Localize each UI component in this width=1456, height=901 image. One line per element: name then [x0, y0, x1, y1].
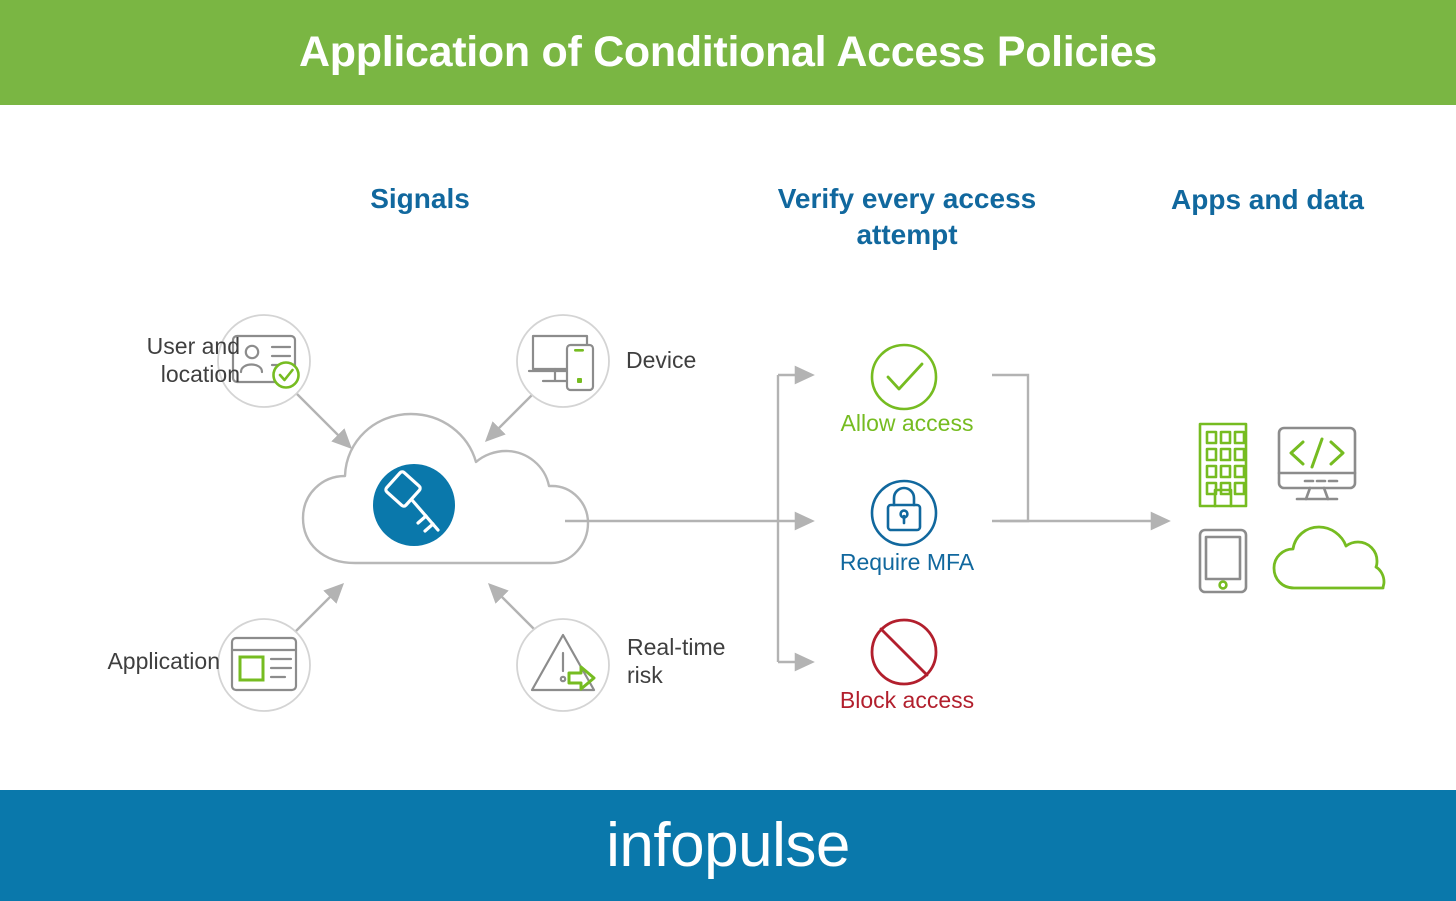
slide-canvas: Application of Conditional Access Polici… — [0, 0, 1456, 901]
connector-application-to-cloud — [295, 585, 342, 632]
green-check-badge-icon — [274, 363, 299, 388]
decision-node-require-mfa[interactable] — [872, 481, 936, 545]
decision-node-block-access[interactable] — [872, 620, 936, 684]
apps-icon-code-monitor[interactable] — [1279, 428, 1355, 499]
signal-label-real-time-risk: Real-time risk — [627, 634, 797, 689]
signal-node-application[interactable] — [218, 619, 310, 711]
connector-user-to-cloud — [292, 389, 350, 447]
signal-label-risk-line1: Real-time — [627, 634, 725, 660]
connector-decisions-to-apps — [992, 375, 1168, 521]
center-key-node — [373, 464, 455, 546]
apps-icon-cloud[interactable] — [1274, 527, 1384, 588]
apps-icon-building[interactable] — [1200, 424, 1246, 506]
decision-node-allow-access[interactable] — [872, 345, 936, 409]
decision-label-allow-access: Allow access — [757, 410, 1057, 437]
signal-label-device: Device — [626, 347, 806, 375]
infopulse-logo: infopulse — [606, 815, 850, 877]
prohibited-circle-icon — [872, 620, 936, 684]
code-brackets-icon — [1291, 439, 1343, 467]
footer-band: infopulse — [0, 790, 1456, 901]
signal-label-application: Application — [10, 648, 220, 676]
decision-label-block-access: Block access — [757, 687, 1057, 714]
diagram-svg — [0, 0, 1456, 901]
signal-node-device[interactable] — [517, 315, 609, 407]
signal-label-user-line2: location — [161, 361, 240, 387]
signal-label-user-line1: User and — [147, 333, 240, 359]
signal-node-real-time-risk[interactable] — [517, 619, 609, 711]
connector-device-to-cloud — [487, 392, 535, 440]
signal-label-user-and-location: User and location — [60, 333, 240, 388]
decision-label-require-mfa: Require MFA — [757, 549, 1057, 576]
signal-label-risk-line2: risk — [627, 662, 663, 688]
connector-risk-to-cloud — [490, 585, 536, 631]
apps-icon-tablet[interactable] — [1200, 530, 1246, 592]
